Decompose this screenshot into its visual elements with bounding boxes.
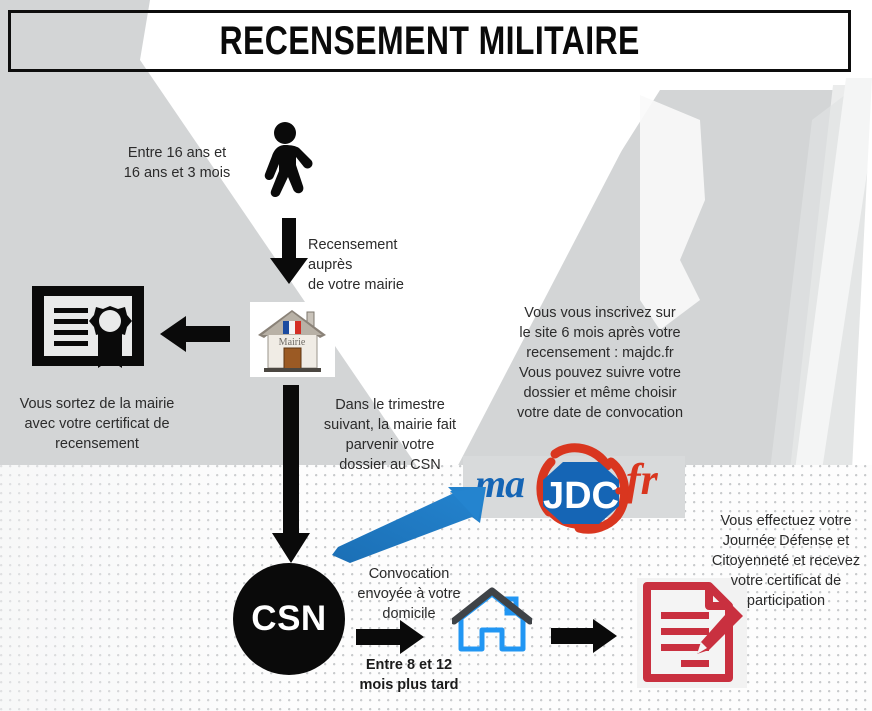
- pedestrian-icon-plate: [241, 119, 332, 205]
- jdc-note-text: Vous effectuez votre Journée Défense et …: [703, 511, 869, 611]
- page-title: RECENSEMENT MILITAIRE: [219, 19, 639, 64]
- arrow-down-to-csn: [270, 385, 312, 565]
- arrow-right-to-house: [356, 618, 426, 656]
- arrow-left-to-certificate: [160, 312, 232, 356]
- house-icon-plate: [452, 585, 532, 657]
- site-note-text: Vous vous inscrivez sur le site 6 mois a…: [500, 303, 700, 423]
- arrow-right-to-document: [551, 617, 619, 655]
- arrow-down-to-mairie: [268, 218, 310, 286]
- certificate-icon-plate: [30, 284, 146, 368]
- certificat-note-text: Vous sortez de la mairie avec votre cert…: [8, 394, 186, 454]
- mairie-icon-plate: Mairie: [250, 302, 335, 377]
- house-outline-icon: [452, 585, 532, 657]
- trimestre-note-text: Dans le trimestre suivant, la mairie fai…: [315, 395, 465, 475]
- arrow-blue-to-majdc: [330, 485, 490, 565]
- logo-fr-text: .fr: [615, 454, 658, 505]
- certificate-icon: [30, 284, 146, 368]
- csn-label: CSN: [251, 599, 326, 639]
- csn-node: CSN: [233, 563, 345, 675]
- mairie-label: Mairie: [279, 337, 306, 348]
- age-note-text: Entre 16 ans et 16 ans et 3 mois: [112, 143, 242, 183]
- majdc-logo-plate: ma JDC .fr: [463, 456, 685, 518]
- delai-note-text: Entre 8 et 12 mois plus tard: [345, 655, 473, 695]
- jdc-letters: JDC: [543, 475, 619, 517]
- infographic-canvas: RECENSEMENT MILITAIRE Entre 16 ans et 16…: [0, 0, 872, 711]
- page-title-box: RECENSEMENT MILITAIRE: [8, 10, 851, 72]
- recensement-mairie-text: Recensement auprès de votre mairie: [308, 235, 443, 295]
- town-hall-icon: Mairie: [250, 302, 335, 377]
- walking-person-icon: [241, 119, 332, 205]
